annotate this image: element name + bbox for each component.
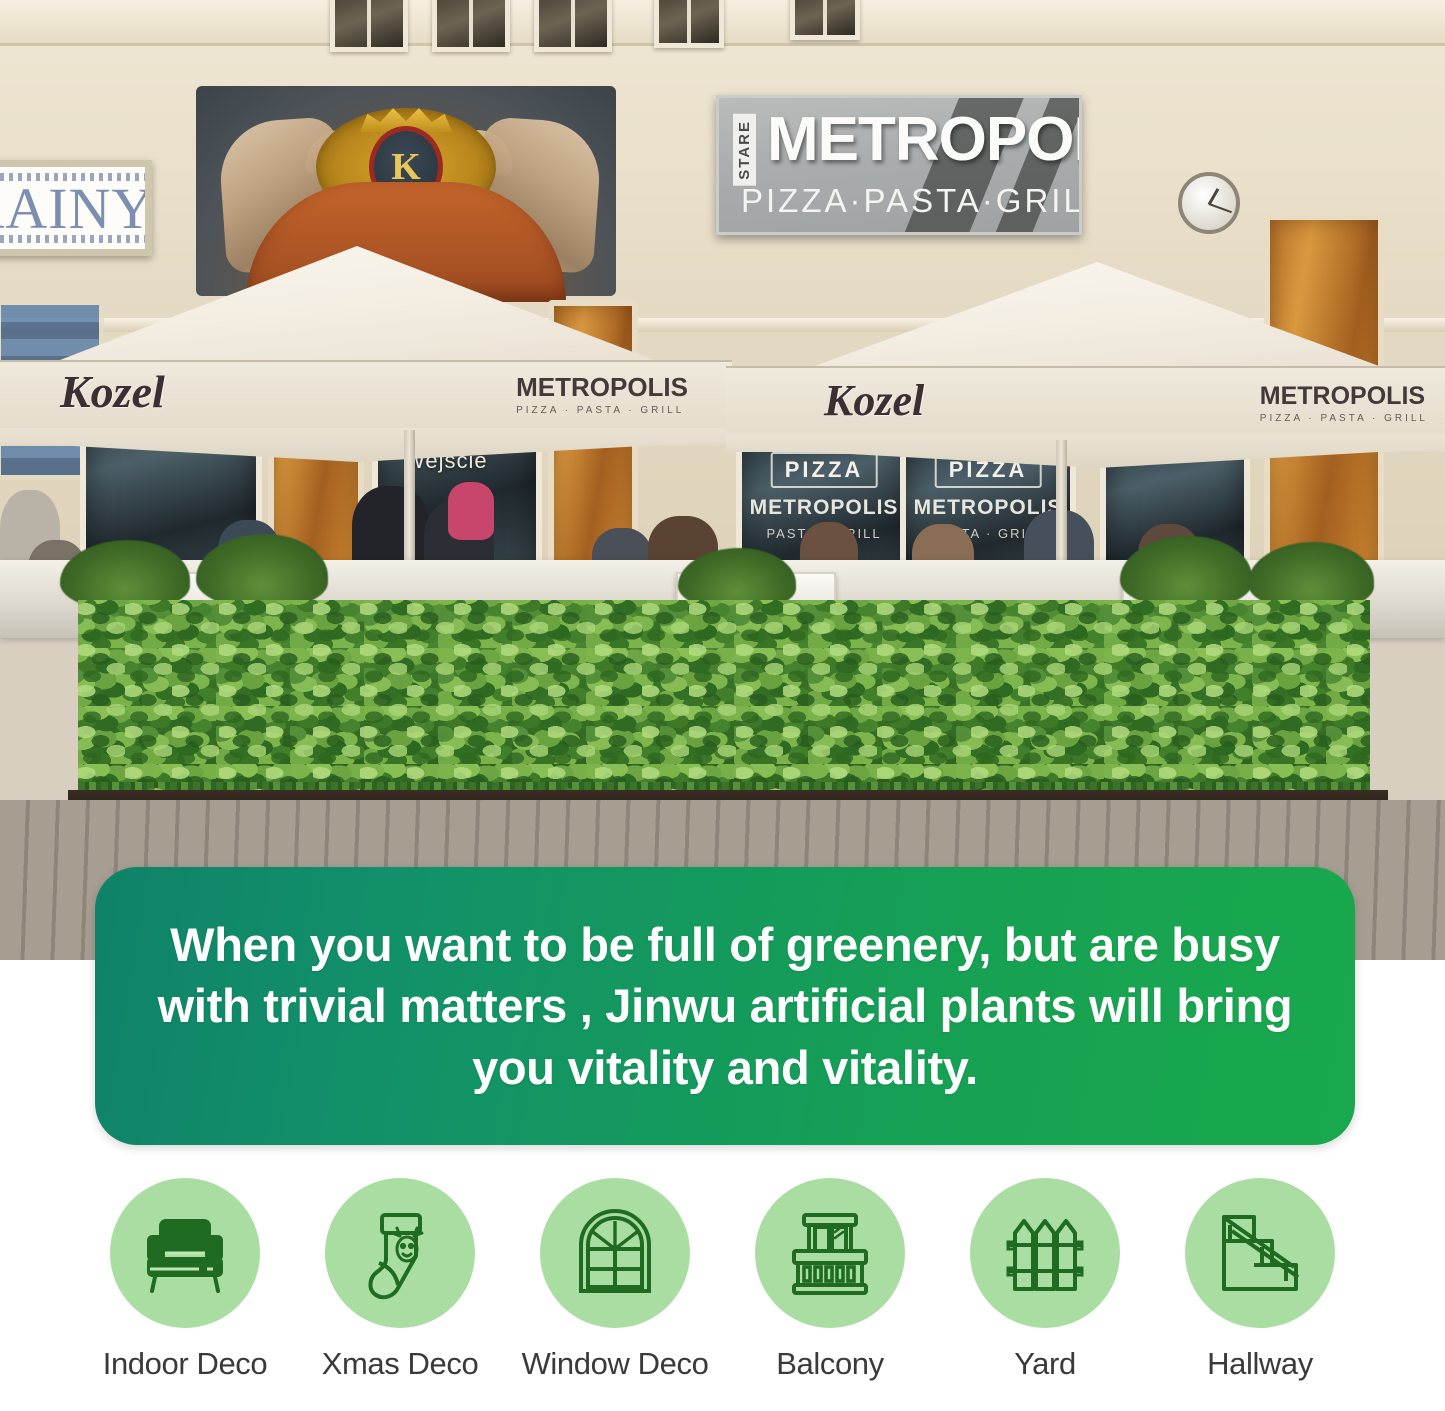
sign-name-text: METROPOLIS [767, 104, 1082, 175]
use-case-indoor-deco[interactable]: Indoor Deco [78, 1178, 293, 1382]
patio-umbrella: Kozel METROPOLIS PIZZA · PASTA · GRILL [0, 246, 732, 446]
balcony-icon [782, 1205, 878, 1301]
sign-rule [0, 235, 145, 243]
artificial-ivy-hedge-panel [78, 600, 1370, 795]
use-case-icon-circle [755, 1178, 905, 1328]
use-case-label: Xmas Deco [322, 1346, 479, 1382]
use-case-icon-circle [110, 1178, 260, 1328]
umbrella-metropolis-text: METROPOLIS PIZZA · PASTA · GRILL [1260, 382, 1428, 424]
use-case-label: Indoor Deco [103, 1346, 267, 1382]
upper-window [432, 0, 510, 52]
umbrella-metropolis-name: METROPOLIS [1260, 382, 1425, 410]
metropolis-decal-text: METROPOLIS [750, 496, 899, 520]
staircase-icon [1212, 1205, 1308, 1301]
use-case-row: Indoor Deco [0, 1178, 1445, 1411]
arched-window-icon [567, 1205, 663, 1301]
umbrella-brand-text: Kozel [60, 365, 165, 418]
upper-window [654, 0, 724, 48]
use-case-label: Window Deco [522, 1346, 709, 1382]
use-case-window-deco[interactable]: Window Deco [508, 1178, 723, 1382]
use-case-yard[interactable]: Yard [938, 1178, 1153, 1382]
sofa-icon [137, 1205, 233, 1301]
person [448, 482, 494, 540]
umbrella-metropolis-sub: PIZZA · PASTA · GRILL [1260, 413, 1428, 424]
headline-text: When you want to be full of greenery, bu… [95, 914, 1355, 1097]
wall-clock-icon [1178, 172, 1240, 234]
headline-banner: When you want to be full of greenery, bu… [95, 867, 1355, 1145]
patio-umbrella: Kozel METROPOLIS PIZZA · PASTA · GRILL [726, 262, 1445, 452]
umbrella-metropolis-text: METROPOLIS PIZZA · PASTA · GRILL [516, 372, 688, 416]
upper-window [534, 0, 612, 52]
umbrella-brand-text: Kozel [824, 375, 924, 426]
sign-prefix-text: STARE [733, 114, 756, 186]
pizza-decal-text: PIZZA [771, 452, 878, 488]
use-case-icon-circle [325, 1178, 475, 1328]
sign-subtitle-text: PIZZA·PASTA·GRILL [741, 182, 1082, 220]
stocking-icon [352, 1205, 448, 1301]
use-case-balcony[interactable]: Balcony [723, 1178, 938, 1382]
use-case-xmas-deco[interactable]: Xmas Deco [293, 1178, 508, 1382]
use-case-icon-circle [540, 1178, 690, 1328]
use-case-label: Hallway [1207, 1346, 1313, 1382]
use-case-icon-circle [970, 1178, 1120, 1328]
use-case-label: Balcony [776, 1346, 884, 1382]
use-case-label: Yard [1014, 1346, 1076, 1382]
umbrella-metropolis-sub: PIZZA · PASTA · GRILL [516, 405, 688, 416]
krainy-shop-sign: RAINY [0, 160, 152, 256]
use-case-icon-circle [1185, 1178, 1335, 1328]
metropolis-wall-sign: STARE METROPOLIS PIZZA·PASTA·GRILL [716, 95, 1082, 235]
upper-window [330, 0, 408, 52]
umbrella-metropolis-name: METROPOLIS [516, 372, 688, 402]
lifestyle-photo: K RAINY STARE METROPOLIS PIZZA·PASTA·GRI… [0, 0, 1445, 960]
product-feature-page: K RAINY STARE METROPOLIS PIZZA·PASTA·GRI… [0, 0, 1445, 1411]
picket-fence-icon [997, 1205, 1093, 1301]
upper-window [790, 0, 860, 40]
krainy-sign-text: RAINY [0, 175, 152, 242]
use-case-hallway[interactable]: Hallway [1153, 1178, 1368, 1382]
